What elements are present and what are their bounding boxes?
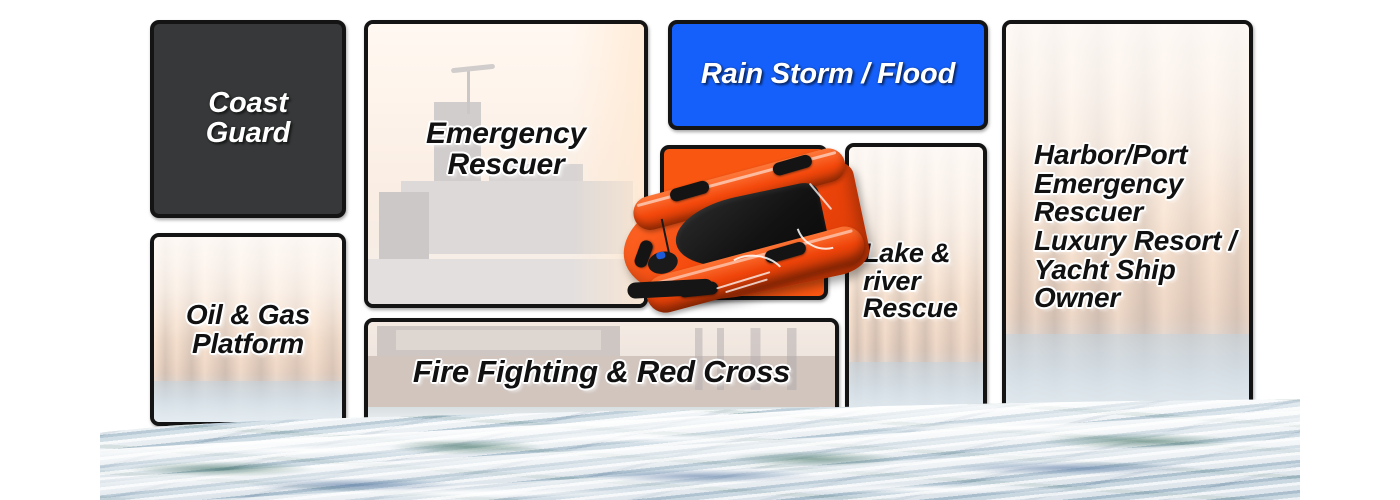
infographic-canvas: Coast Guard Oil & Gas Platform Emergency… bbox=[0, 0, 1400, 500]
panel-harbor-port[interactable]: Harbor/Port Emergency Rescuer Luxury Res… bbox=[1002, 20, 1253, 426]
panel-rain-storm-flood[interactable]: Rain Storm / Flood bbox=[668, 20, 988, 130]
panel-label-oil-gas-platform: Oil & Gas Platform bbox=[186, 301, 310, 358]
panel-emergency-rescuer[interactable]: Emergency Rescuer bbox=[364, 20, 648, 308]
rescue-boat-product-image bbox=[612, 160, 880, 330]
panel-label-emergency-rescuer: Emergency Rescuer bbox=[426, 119, 586, 180]
panel-coast-guard[interactable]: Coast Guard bbox=[150, 20, 346, 218]
panel-label-rain-storm-flood: Rain Storm / Flood bbox=[701, 60, 955, 90]
panel-label-fire-fighting-red-cross: Fire Fighting & Red Cross bbox=[413, 356, 790, 388]
panel-label-harbor-port: Harbor/Port Emergency Rescuer Luxury Res… bbox=[1006, 141, 1236, 312]
panel-oil-gas-platform[interactable]: Oil & Gas Platform bbox=[150, 233, 346, 426]
panel-label-coast-guard: Coast Guard bbox=[206, 89, 290, 148]
